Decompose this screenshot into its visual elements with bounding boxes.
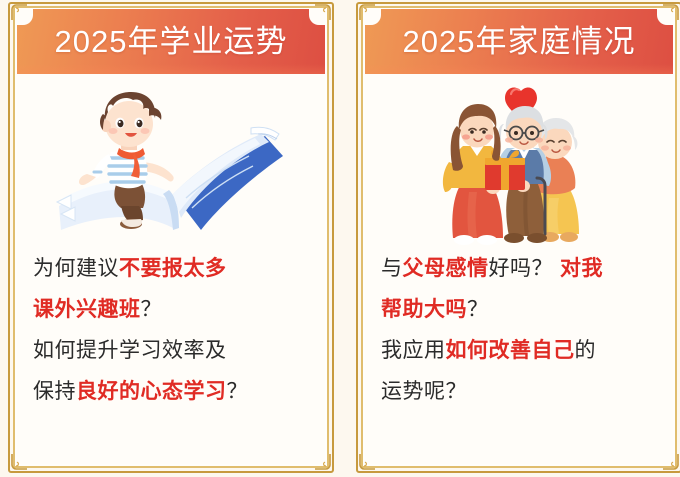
plain-phrase: 的: [575, 339, 597, 362]
card-academic-fortune[interactable]: 2025年学业运势: [6, 0, 336, 477]
illustration-boy-on-book: [17, 76, 325, 244]
body-line: 保持良好的心态学习？: [33, 371, 320, 412]
illustration-family-with-gift: [365, 76, 673, 244]
body-line: 与父母感情好吗？对我: [381, 248, 668, 289]
card-body-text: 为何建议不要报太多 课外兴趣班？ 如何提升学习效率及 保持良好的心态学习？: [33, 248, 320, 412]
body-line: 课外兴趣班？: [33, 289, 320, 330]
card-family-situation[interactable]: 2025年家庭情况: [354, 0, 680, 477]
body-line: 帮助大吗？: [381, 289, 668, 330]
plain-phrase: 好吗？: [489, 257, 554, 280]
body-line: 如何提升学习效率及: [33, 330, 320, 371]
body-line: 我应用如何改善自己的: [381, 330, 668, 371]
card-header-banner: 2025年家庭情况: [365, 9, 673, 74]
highlighted-phrase: 如何改善自己: [446, 339, 575, 362]
highlighted-phrase: 良好的心态学习: [76, 380, 227, 403]
banner-notch-left: [365, 9, 381, 25]
card-body-text: 与父母感情好吗？对我 帮助大吗？ 我应用如何改善自己的 运势呢？: [381, 248, 668, 412]
highlighted-phrase: 帮助大吗: [381, 298, 467, 321]
plain-phrase: 我应用: [381, 339, 446, 362]
plain-phrase: 如何提升学习效率及: [33, 339, 227, 362]
card-title: 2025年家庭情况: [403, 26, 636, 57]
plain-phrase: 为何建议: [33, 257, 119, 280]
highlighted-phrase: 课外兴趣班: [33, 298, 141, 321]
card-title: 2025年学业运势: [55, 26, 288, 57]
banner-notch-right: [657, 9, 673, 25]
banner-notch-right: [309, 9, 325, 25]
banner-notch-left: [17, 9, 33, 25]
body-line: 运势呢？: [381, 371, 668, 412]
plain-phrase: 与: [381, 257, 403, 280]
plain-phrase: 运势呢？: [381, 380, 467, 403]
plain-phrase: ？: [467, 298, 489, 321]
card-header-banner: 2025年学业运势: [17, 9, 325, 74]
plain-phrase: 保持: [33, 380, 76, 403]
highlighted-phrase: 不要报太多: [119, 257, 227, 280]
plain-phrase: ？: [227, 380, 249, 403]
body-line: 为何建议不要报太多: [33, 248, 320, 289]
highlighted-phrase: 对我: [560, 257, 603, 280]
cards-stage: 2025年学业运势: [0, 0, 680, 477]
plain-phrase: ？: [141, 298, 163, 321]
highlighted-phrase: 父母感情: [403, 257, 489, 280]
